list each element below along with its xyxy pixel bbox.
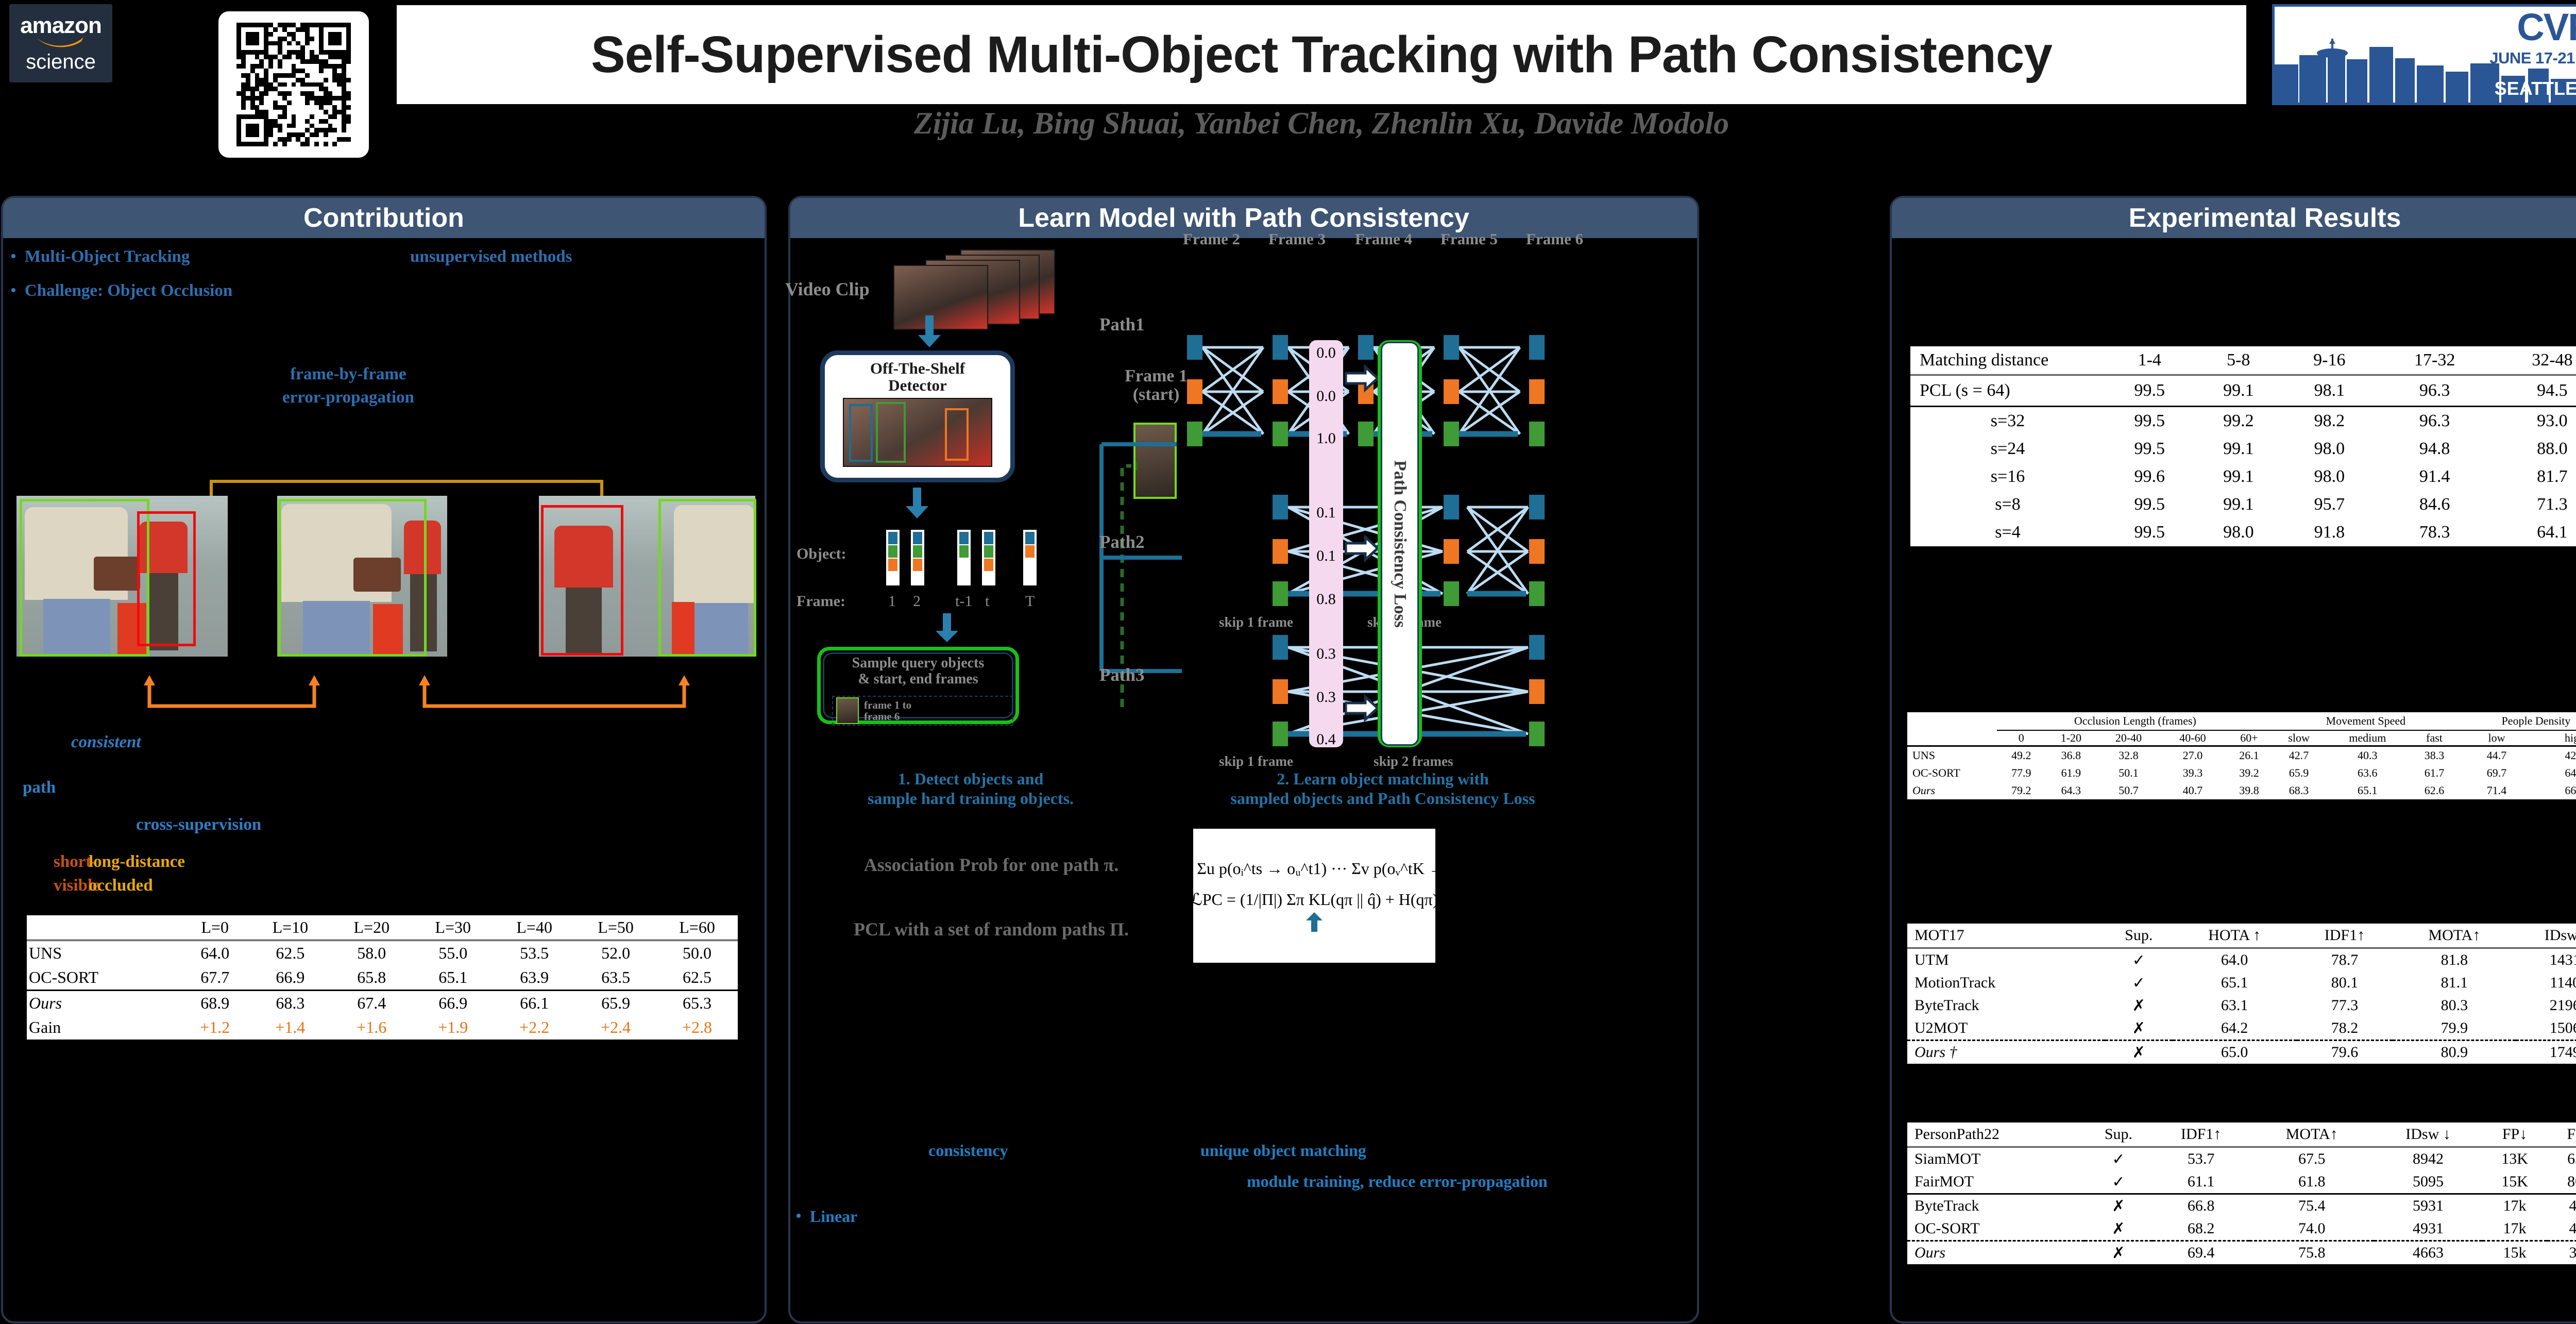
cell: 78.3 xyxy=(2376,518,2494,547)
cvpr-wordmark: CVPR xyxy=(2517,10,2576,45)
sample-query-line-1: Sample query objects xyxy=(852,655,985,671)
object-cell-green xyxy=(959,545,969,558)
contribution-panel-title: Contribution xyxy=(303,203,464,233)
learn-panel-title: Learn Model with Path Consistency xyxy=(1018,203,1469,233)
detector-title: Off-The-Shelf Detector xyxy=(870,360,965,394)
annotation-linear: Linear xyxy=(810,1207,857,1226)
contribution-bullet-1-text: Multi-Object Tracking xyxy=(25,247,190,266)
row-name-pcl: PCL (s = 64) xyxy=(1910,375,2105,407)
row-name-uns: UNS xyxy=(27,941,180,966)
th-slow: slow xyxy=(2274,730,2325,746)
table-row: OC-SORT 77.9 61.9 50.1 39.3 39.2 65.9 63… xyxy=(1907,764,2576,782)
cell: +1.9 xyxy=(412,1015,494,1040)
cell: 44.7 xyxy=(2458,746,2535,765)
cell: 64.0 xyxy=(2173,948,2297,972)
cell: 98.0 xyxy=(2283,463,2376,491)
prob-p2-2: 0.8 xyxy=(1309,591,1343,608)
th-occ-1-20: 1-20 xyxy=(2046,730,2097,746)
personpath22-table-wrap: PersonPath22 Sup. IDF1↑ MOTA↑ IDsw ↓ FP↓… xyxy=(1907,1120,2576,1266)
object-column xyxy=(957,530,971,585)
cell: 99.1 xyxy=(2194,435,2283,463)
qr-code[interactable] xyxy=(218,11,369,158)
skip-label-path3-left: skip 1 frame xyxy=(1219,753,1293,769)
cell: 67.5 xyxy=(2249,1147,2374,1171)
table-row: SiamMOT ✓ 53.7 67.5 8942 13K 63K xyxy=(1907,1147,2576,1171)
path3-node-blue xyxy=(1529,635,1545,660)
row-name-ours: Ours † xyxy=(1907,1041,2105,1064)
cell: 1506 xyxy=(2516,1017,2576,1041)
frame-header-3: Frame 3 xyxy=(1268,230,1326,248)
cell: 68.3 xyxy=(249,991,331,1016)
path1-node-orange xyxy=(1273,379,1288,404)
bullet-dot-icon: • xyxy=(10,281,16,300)
table-row: OC-SORT ✗ 68.2 74.0 4931 17k 41k xyxy=(1907,1217,2576,1241)
cell: 77.3 xyxy=(2297,994,2393,1017)
cell: 67.4 xyxy=(331,991,412,1016)
cell: ✗ xyxy=(2084,1241,2153,1266)
th-mot17: MOT17 xyxy=(1907,923,2105,948)
row-name-fairmot: FairMOT xyxy=(1907,1170,2084,1194)
table-row: U2MOT ✗ 64.2 78.2 79.9 1506 xyxy=(1907,1017,2576,1041)
frame-by-frame-text: frame-by-frame xyxy=(238,363,459,386)
step1-caption: 1. Detect objects and sample hard traini… xyxy=(795,769,1146,809)
table-row: UNS 49.2 36.8 32.8 27.0 26.1 42.7 40.3 3… xyxy=(1907,746,2576,765)
group-header-speed: Movement Speed xyxy=(2274,711,2458,730)
cell: +2.8 xyxy=(656,1015,738,1040)
red-bbox-frame-1 xyxy=(137,511,196,646)
path1-node-blue xyxy=(1358,335,1374,360)
cell: 75.4 xyxy=(2249,1194,2374,1218)
detection-box-green xyxy=(876,402,906,463)
table-header-row: 0 1-20 20-40 40-60 60+ slow medium fast … xyxy=(1907,730,2576,746)
object-cell-blue xyxy=(959,532,969,544)
th-idsw: IDsw↓ xyxy=(2516,923,2576,948)
th-mota: MOTA↑ xyxy=(2249,1121,2374,1147)
annotation-long-distance: long-distance xyxy=(89,852,185,872)
cell: 66.8 xyxy=(2153,1194,2250,1218)
row-name-u2mot: U2MOT xyxy=(1907,1017,2105,1041)
equation2-caption: PCL with a set of random paths Π. xyxy=(795,918,1187,940)
table-row: Gain +1.2 +1.4 +1.6 +1.9 +2.2 +2.4 +2.8 xyxy=(27,1015,738,1040)
cell: 50.0 xyxy=(656,941,738,966)
row-name-bytetrack: ByteTrack xyxy=(1907,1194,2084,1218)
cell: +1.2 xyxy=(180,1015,249,1040)
frame-header-2: Frame 2 xyxy=(1183,230,1240,248)
cell: 77.9 xyxy=(1997,764,2046,782)
cell: 13K xyxy=(2482,1147,2547,1171)
row-name-s8: s=8 xyxy=(1910,491,2105,518)
path2-node-blue xyxy=(1273,495,1288,519)
sample-query-title: Sample query objects & start, end frames xyxy=(821,656,1015,688)
sample-range-line-1: frame 1 to xyxy=(864,699,911,711)
cell: ✗ xyxy=(2105,1017,2173,1041)
path2-node-orange xyxy=(1529,539,1545,564)
table-row: ByteTrack ✗ 66.8 75.4 5931 17k 40k xyxy=(1907,1194,2576,1218)
table-row: Ours † ✗ 65.0 79.6 80.9 1749 xyxy=(1907,1041,2576,1064)
cell: 80.3 xyxy=(2393,994,2516,1017)
cell: 4931 xyxy=(2374,1217,2482,1241)
occlusion-table-wrap: Occlusion Length (frames) Movement Speed… xyxy=(1907,710,2576,799)
detector-example-image xyxy=(843,398,992,467)
cell: 91.4 xyxy=(2376,463,2494,491)
cell: ✗ xyxy=(2105,994,2173,1017)
th-5-8: 5-8 xyxy=(2194,345,2283,375)
table-row: s=24 99.5 99.1 98.0 94.8 88.0 xyxy=(1910,435,2576,463)
th-idf1: IDF1↑ xyxy=(2297,923,2393,948)
cell: 80.1 xyxy=(2297,971,2393,994)
cell: 96.3 xyxy=(2376,407,2494,435)
object-row-label: Object: xyxy=(796,545,846,563)
frame-tick-t-1: t-1 xyxy=(955,593,972,610)
learn-model-panel: Learn Model with Path Consistency Video … xyxy=(788,196,1699,1323)
cell: 61.7 xyxy=(2411,764,2458,782)
results-panel-body: Matching distance 1-4 5-8 9-16 17-32 32-… xyxy=(1892,238,2576,1318)
cell: 39.2 xyxy=(2225,764,2274,782)
bullet-dot-icon: • xyxy=(795,1207,802,1226)
row-name-s16: s=16 xyxy=(1910,463,2105,491)
cell: 68.2 xyxy=(2153,1217,2250,1241)
cell: 98.2 xyxy=(2283,407,2376,435)
path2-node-orange xyxy=(1444,539,1459,564)
cell: 39.3 xyxy=(2161,764,2225,782)
object-cell-green xyxy=(888,545,897,558)
step1-line-2: sample hard training objects. xyxy=(868,789,1074,808)
detection-box-blue xyxy=(849,404,873,462)
path3-label: Path3 xyxy=(1099,665,1145,685)
association-probability-column: 0.0 0.0 1.0 0.1 0.1 0.8 0.3 0.3 0.4 xyxy=(1309,340,1343,747)
cell: 17k xyxy=(2482,1194,2547,1218)
cell: 62.6 xyxy=(2411,782,2458,799)
amazon-science-logo: amazon science xyxy=(9,4,112,82)
path1-node-orange xyxy=(1529,379,1545,404)
frame-row-label: Frame: xyxy=(796,593,845,610)
th-occ-20-40: 20-40 xyxy=(2096,730,2160,746)
th-17-32: 17-32 xyxy=(2376,345,2494,375)
row-name-motiontrack: MotionTrack xyxy=(1907,971,2105,994)
occlusion-speed-density-table: Occlusion Length (frames) Movement Speed… xyxy=(1907,710,2576,799)
pcl-inner-border: Path Consistency Loss xyxy=(1381,342,1419,746)
cell: 99.1 xyxy=(2194,463,2283,491)
matching-distance-table: Matching distance 1-4 5-8 9-16 17-32 32-… xyxy=(1910,344,2576,548)
cell: 36.8 xyxy=(2046,746,2097,765)
cell: 69.4 xyxy=(2153,1241,2250,1266)
table-row: MotionTrack ✓ 65.1 80.1 81.1 1140 xyxy=(1907,971,2576,994)
cell: 99.1 xyxy=(2194,491,2283,518)
cell: 27.0 xyxy=(2161,746,2225,765)
step1-line-1: 1. Detect objects and xyxy=(898,769,1044,788)
prob-p1-2: 1.0 xyxy=(1309,430,1343,447)
frame-tick-1: 1 xyxy=(888,593,896,610)
cell: 17k xyxy=(2482,1217,2547,1241)
loss-input-arrows xyxy=(1345,362,1381,733)
cell: 84.6 xyxy=(2376,491,2494,518)
cell: 98.0 xyxy=(2283,435,2376,463)
sample-query-line-2: & start, end frames xyxy=(858,671,978,687)
row-name-s24: s=24 xyxy=(1910,435,2105,463)
frame-tick-t: t xyxy=(985,593,989,610)
sample-query-example: frame 1 to frame 6 xyxy=(832,696,1013,726)
annotation-unique-matching: unique object matching xyxy=(1200,1141,1366,1160)
contribution-panel-body: • Multi-Object Tracking unsupervised met… xyxy=(3,238,765,1318)
cell: 63.1 xyxy=(2173,994,2297,1017)
th-l60: L=60 xyxy=(656,914,738,941)
contribution-bullet-1: • Multi-Object Tracking xyxy=(10,247,190,266)
cell: 98.0 xyxy=(2194,518,2283,547)
path3-node-green xyxy=(1273,722,1288,746)
row-name-ours: Ours xyxy=(1907,1241,2084,1266)
cell: 71.4 xyxy=(2458,782,2535,799)
table-row: FairMOT ✓ 61.1 61.8 5095 15K 80K xyxy=(1907,1170,2576,1194)
cell: 58.0 xyxy=(331,941,412,966)
contribution-table-wrap: L=0 L=10 L=20 L=30 L=40 L=50 L=60 UNS 64… xyxy=(27,913,738,1040)
path1-node-orange xyxy=(1444,379,1459,404)
cell: 69.7 xyxy=(2458,764,2535,782)
cell: 79.9 xyxy=(2393,1017,2516,1041)
cell: 66.9 xyxy=(249,965,331,991)
table-row: s=4 99.5 98.0 91.8 78.3 64.1 xyxy=(1910,518,2576,547)
cell: 95.7 xyxy=(2283,491,2376,518)
object-cell-blue xyxy=(888,532,897,544)
cell: 63.9 xyxy=(494,965,575,991)
contribution-bullet-2: • Challenge: Object Occlusion xyxy=(10,281,232,300)
cell: 88.0 xyxy=(2494,435,2576,463)
cell: 1431 xyxy=(2516,948,2576,972)
prob-p1-0: 0.0 xyxy=(1309,344,1343,362)
object-cell-empty xyxy=(1025,559,1035,571)
path2-node-green xyxy=(1444,581,1459,606)
table-row: UTM ✓ 64.0 78.7 81.8 1431 xyxy=(1907,948,2576,972)
equation-1: qπ (j) = Σu p(oᵢ^ts → oᵤ^t1) ··· Σv p(oᵥ… xyxy=(1143,859,1485,878)
annotation-path: path xyxy=(23,778,56,797)
contribution-bullet-1-right-text: unsupervised methods xyxy=(410,247,572,266)
object-cell-blue xyxy=(913,532,922,544)
th-l10: L=10 xyxy=(249,914,331,941)
cell: 91.8 xyxy=(2283,518,2376,547)
sample-range-line-2: frame 6 xyxy=(864,710,900,723)
object-cell-orange xyxy=(984,559,993,571)
cell: 65.1 xyxy=(2324,782,2411,799)
object-column xyxy=(982,530,995,585)
results-panel-title: Experimental Results xyxy=(2129,203,2401,233)
row-name-ocsort: OC-SORT xyxy=(1907,1217,2084,1241)
th-fp: FP↓ xyxy=(2482,1121,2547,1147)
green-bbox-frame-3 xyxy=(658,499,756,657)
row-name-ocsort: OC-SORT xyxy=(1907,764,1997,782)
cell: 64.8 xyxy=(2535,764,2576,782)
step2-caption: 2. Learn object matching with sampled ob… xyxy=(1130,769,1635,809)
up-arrow-icon xyxy=(1304,912,1325,933)
frame-tick-T: T xyxy=(1025,593,1035,610)
cell: ✓ xyxy=(2084,1170,2153,1194)
cell: 68.3 xyxy=(2274,782,2325,799)
th-1-4: 1-4 xyxy=(2105,345,2194,375)
path1-label: Path1 xyxy=(1099,314,1145,335)
th-occ-40-60: 40-60 xyxy=(2161,730,2225,746)
table-row: UNS 64.0 62.5 58.0 55.0 53.5 52.0 50.0 xyxy=(27,941,738,966)
path3-node-orange xyxy=(1529,679,1545,704)
down-arrow-icon xyxy=(902,488,933,519)
red-bbox-frame-3 xyxy=(541,505,623,656)
cell: 5095 xyxy=(2374,1170,2482,1194)
path2-node-green xyxy=(1273,581,1288,606)
th-occ-60plus: 60+ xyxy=(2225,730,2274,746)
th-personpath22: PersonPath22 xyxy=(1907,1121,2084,1147)
cell: 80K xyxy=(2547,1170,2576,1194)
table-group-header-row: Occlusion Length (frames) Movement Speed… xyxy=(1907,711,2576,730)
object-cell-blue xyxy=(984,532,993,544)
cell: 8942 xyxy=(2374,1147,2482,1171)
th-l20: L=20 xyxy=(331,914,412,941)
table-row: s=32 99.5 99.2 98.2 96.3 93.0 xyxy=(1910,407,2576,435)
prob-p3-2: 0.4 xyxy=(1309,731,1343,748)
annotation-module-training: module training, reduce error-propagatio… xyxy=(1247,1172,1548,1191)
personpath22-table: PersonPath22 Sup. IDF1↑ MOTA↑ IDsw ↓ FP↓… xyxy=(1907,1120,2576,1266)
cell: 26.1 xyxy=(2225,746,2274,765)
cell: 67.7 xyxy=(180,965,249,991)
cell: 66.1 xyxy=(494,991,575,1016)
cvpr-logo: CVPR JUNE 17-21, 2024 SEATTLE, WA xyxy=(2272,4,2576,105)
annotation-consistent: consistent xyxy=(71,733,141,752)
frame-tick-2: 2 xyxy=(913,593,921,610)
contribution-panel: Contribution • Multi-Object Tracking uns… xyxy=(1,196,767,1323)
equation-2: ℒPC = (1/|Π|) Σπ KL(qπ || q̂) + H(qπ) xyxy=(1191,890,1438,909)
detector-line-2: Detector xyxy=(888,376,947,394)
frame-by-frame-annotation: frame-by-frame error-propagation xyxy=(238,363,459,409)
cell: 1140 xyxy=(2516,971,2576,994)
cell: 1749 xyxy=(2516,1041,2576,1064)
frame-header-4: Frame 4 xyxy=(1355,230,1412,248)
table-header-row: L=0 L=10 L=20 L=30 L=40 L=50 L=60 xyxy=(27,914,738,941)
row-name-ocsort: OC-SORT xyxy=(27,965,180,991)
path-consistency-loss-box: Path Consistency Loss xyxy=(1378,340,1422,747)
th-sup: Sup. xyxy=(2084,1121,2153,1147)
cell: 78.2 xyxy=(2297,1017,2393,1041)
prob-p2-1: 0.1 xyxy=(1309,547,1343,565)
learn-panel-body: Video Clip Off-The-Shelf Detector Object… xyxy=(790,238,1697,1318)
green-bbox-frame-2 xyxy=(278,499,427,657)
cell: 94.8 xyxy=(2376,435,2494,463)
path1-node-blue xyxy=(1529,335,1545,360)
cell: 65.9 xyxy=(2274,764,2325,782)
path1-node-green xyxy=(1529,422,1545,446)
pcl-box-text: Path Consistency Loss xyxy=(1390,460,1410,628)
th-idf1: IDF1↑ xyxy=(2153,1121,2250,1147)
cell: 64.0 xyxy=(180,941,249,966)
cell: ✓ xyxy=(2105,971,2173,994)
mot17-table-wrap: MOT17 Sup. HOTA ↑ IDF1↑ MOTA↑ IDsw↓ UTM … xyxy=(1907,921,2576,1064)
cell: ✗ xyxy=(2084,1217,2153,1241)
green-bbox-frame-1 xyxy=(20,499,149,657)
row-name-uns: UNS xyxy=(1907,746,1997,765)
cell: 61.1 xyxy=(2153,1170,2250,1194)
cell: 78.7 xyxy=(2297,948,2393,972)
cell: 63.6 xyxy=(2324,764,2411,782)
th-high: high xyxy=(2535,730,2576,746)
path2-node-blue xyxy=(1529,495,1545,519)
group-header-occlusion: Occlusion Length (frames) xyxy=(1997,711,2274,730)
th-l0: L=0 xyxy=(180,914,249,941)
cell: 99.1 xyxy=(2194,375,2283,407)
object-cell-orange xyxy=(888,559,897,571)
th-sup: Sup. xyxy=(2105,923,2173,948)
contribution-annotations: consistent path cross-supervision short-… xyxy=(3,733,765,903)
cvpr-date: JUNE 17-21, 2024 xyxy=(2489,49,2576,68)
object-column xyxy=(1023,530,1037,585)
cell: 15k xyxy=(2482,1241,2547,1266)
mot17-table: MOT17 Sup. HOTA ↑ IDF1↑ MOTA↑ IDsw↓ UTM … xyxy=(1907,921,2576,1064)
cell: +2.4 xyxy=(575,1015,656,1040)
path2-node-green xyxy=(1529,581,1545,606)
cell: 80.9 xyxy=(2393,1041,2516,1064)
cell: 99.6 xyxy=(2105,463,2194,491)
row-name-s4: s=4 xyxy=(1910,518,2105,547)
table-header-row: PersonPath22 Sup. IDF1↑ MOTA↑ IDsw ↓ FP↓… xyxy=(1907,1121,2576,1147)
path1-node-blue xyxy=(1444,335,1459,360)
annotation-consistency: consistency xyxy=(928,1141,1008,1160)
th-9-16: 9-16 xyxy=(2283,345,2376,375)
cell: 65.8 xyxy=(331,965,412,991)
path1-node-blue xyxy=(1273,335,1288,360)
cell: 68.9 xyxy=(180,991,249,1016)
cell: 81.8 xyxy=(2393,948,2516,972)
object-cell-orange xyxy=(913,559,922,571)
cell: 94.5 xyxy=(2494,375,2576,407)
cell: 50.7 xyxy=(2096,782,2160,799)
th-fn: FN↓ xyxy=(2547,1121,2576,1147)
cell: 81.1 xyxy=(2393,971,2516,994)
table-header-row: MOT17 Sup. HOTA ↑ IDF1↑ MOTA↑ IDsw↓ xyxy=(1907,923,2576,948)
cell: 4663 xyxy=(2374,1241,2482,1266)
path1-node-green xyxy=(1273,422,1288,446)
cell: 38k xyxy=(2547,1241,2576,1266)
tracking-example-figure xyxy=(9,496,756,717)
skip-label-path3-right: skip 2 frames xyxy=(1374,753,1453,769)
table-row: ByteTrack ✗ 63.1 77.3 80.3 2196 xyxy=(1907,994,2576,1017)
down-arrow-icon xyxy=(914,315,945,348)
frame-header-5: Frame 5 xyxy=(1440,230,1498,248)
path3-node-orange xyxy=(1273,679,1288,704)
cell: 96.3 xyxy=(2376,375,2494,407)
cell: 32.8 xyxy=(2096,746,2160,765)
cell: 64.2 xyxy=(2173,1017,2297,1041)
cell: 74.0 xyxy=(2249,1217,2374,1241)
th-matching-distance: Matching distance xyxy=(1910,345,2105,375)
table-header-row: Matching distance 1-4 5-8 9-16 17-32 32-… xyxy=(1910,345,2576,375)
cell: 52.0 xyxy=(575,941,656,966)
cell: ✗ xyxy=(2105,1041,2173,1064)
table-row: Ours ✗ 69.4 75.8 4663 15k 38k xyxy=(1907,1241,2576,1266)
cell: 38.3 xyxy=(2411,746,2458,765)
object-column xyxy=(886,530,900,585)
cell: 62.5 xyxy=(656,965,738,991)
qr-code-grid xyxy=(236,23,351,146)
th-32-48: 32-48 xyxy=(2494,345,2576,375)
contribution-results-table: L=0 L=10 L=20 L=30 L=40 L=50 L=60 UNS 64… xyxy=(27,913,738,1040)
path1-node-orange xyxy=(1187,379,1202,404)
cell: 15K xyxy=(2482,1170,2547,1194)
cell: 42.7 xyxy=(2274,746,2325,765)
cell: ✓ xyxy=(2084,1147,2153,1171)
table-row: Ours 79.2 64.3 50.7 40.7 39.8 68.3 65.1 … xyxy=(1907,782,2576,799)
video-clip-label: Video Clip xyxy=(785,278,870,300)
th-fast: fast xyxy=(2411,730,2458,746)
path2-node-blue xyxy=(1444,495,1459,519)
detector-line-1: Off-The-Shelf xyxy=(870,359,965,377)
th-low: low xyxy=(2458,730,2535,746)
row-name-bytetrack: ByteTrack xyxy=(1907,994,2105,1017)
detection-box-orange xyxy=(945,408,969,461)
cell: 64.3 xyxy=(2046,782,2097,799)
